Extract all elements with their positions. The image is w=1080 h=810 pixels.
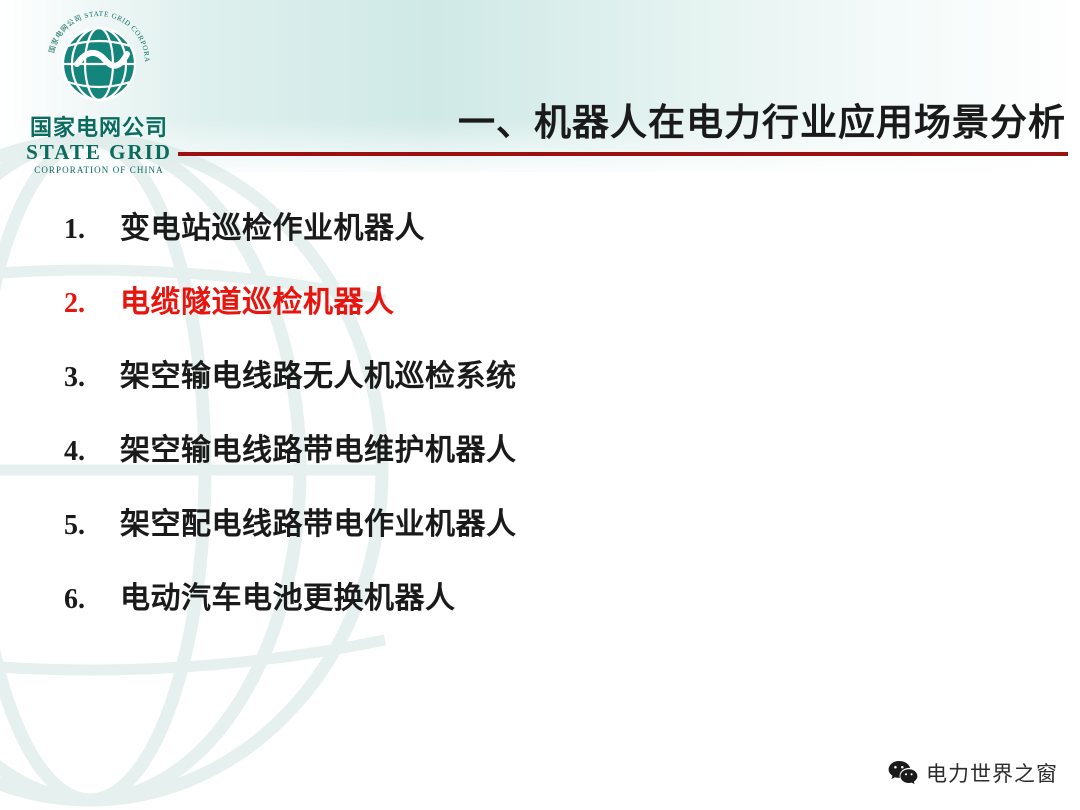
list-item[interactable]: 3. 架空输电线路无人机巡检系统 (64, 351, 1024, 400)
list-item-number: 6. (64, 584, 120, 616)
list-item-number: 5. (64, 510, 120, 542)
list-item-label: 电动汽车电池更换机器人 (120, 573, 456, 617)
list-item[interactable]: 1. 变电站巡检作业机器人 (64, 203, 1024, 252)
list-item-number: 4. (64, 436, 120, 468)
globe-logo-icon: 国家电网公司 STATE GRID CORPORATION (47, 10, 151, 114)
header-divider (178, 152, 1068, 156)
list-item-label: 变电站巡检作业机器人 (120, 203, 425, 247)
list-item-label: 架空配电线路带电作业机器人 (120, 499, 517, 543)
wechat-icon (888, 760, 918, 786)
list-item[interactable]: 4. 架空输电线路带电维护机器人 (64, 425, 1024, 474)
list-item-label: 架空输电线路无人机巡检系统 (120, 351, 517, 395)
scenario-list: 1. 变电站巡检作业机器人 2. 电缆隧道巡检机器人 3. 架空输电线路无人机巡… (64, 203, 1024, 647)
page-title: 一、机器人在电力行业应用场景分析 (200, 92, 1066, 146)
state-grid-logo: 国家电网公司 STATE GRID CORPORATION 国家电网公司 STA… (14, 10, 184, 175)
logo-company-cn: 国家电网公司 (14, 116, 184, 140)
list-item-number: 2. (64, 288, 120, 320)
logo-company-en-line2: CORPORATION OF CHINA (14, 165, 184, 175)
list-item[interactable]: 5. 架空配电线路带电作业机器人 (64, 499, 1024, 548)
list-item[interactable]: 6. 电动汽车电池更换机器人 (64, 573, 1024, 622)
slide-canvas: 国家电网公司 STATE GRID CORPORATION 国家电网公司 STA… (0, 0, 1080, 810)
list-item-label: 电缆隧道巡检机器人 (120, 277, 395, 321)
logo-company-en-line1: STATE GRID (14, 140, 184, 164)
wechat-label: 电力世界之窗 (926, 758, 1058, 788)
list-item[interactable]: 2. 电缆隧道巡检机器人 (64, 277, 1024, 326)
list-item-number: 3. (64, 362, 120, 394)
list-item-number: 1. (64, 214, 120, 246)
wechat-watermark: 电力世界之窗 (888, 758, 1058, 788)
list-item-label: 架空输电线路带电维护机器人 (120, 425, 517, 469)
